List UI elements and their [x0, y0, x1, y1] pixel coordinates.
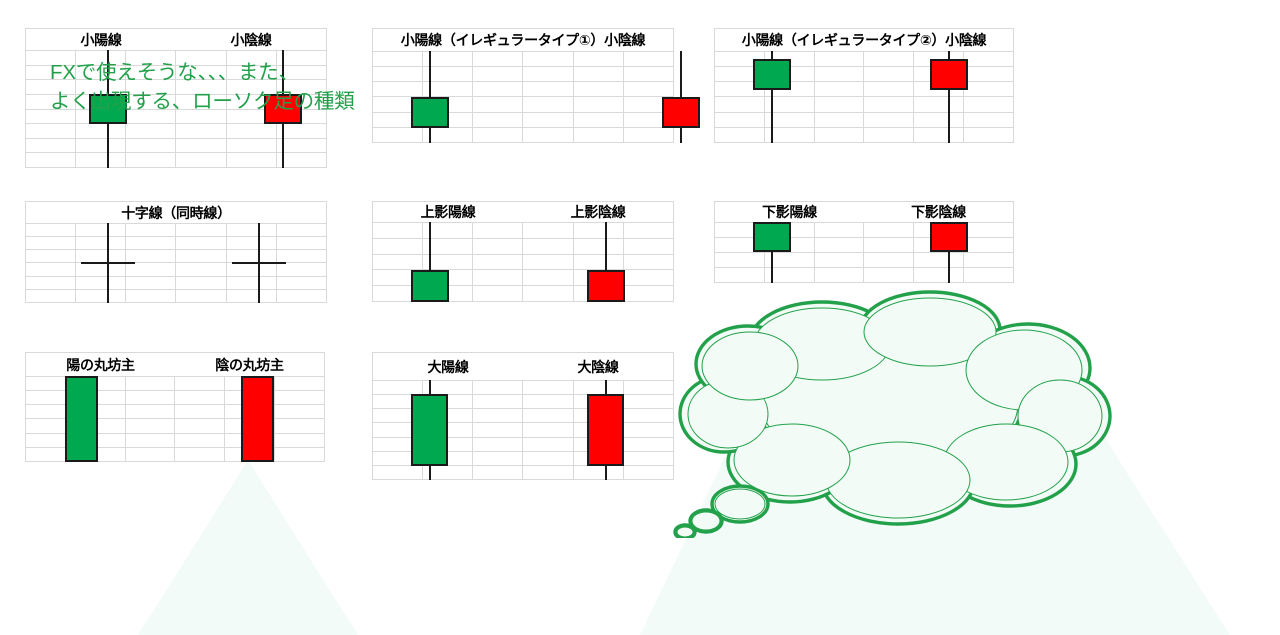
panel-header-label-1: 小陰線	[176, 30, 326, 50]
panel-header-label-1: 下影陰線	[864, 202, 1013, 222]
panel-header-row: 上影陽線 上影陰線	[373, 202, 674, 223]
panel-doji: 十字線（同時線）	[25, 201, 327, 303]
panel-header-row: 下影陽線 下影陰線	[715, 202, 1014, 223]
watermark-triangle-1	[138, 460, 358, 635]
bubble-text: FXで使えそうな、、、また、 よく出現する、ローソク足の種類	[50, 58, 410, 116]
grid-table: 下影陽線 下影陰線	[714, 201, 1014, 283]
panel-header-label-1: 陰の丸坊主	[175, 355, 324, 375]
panel-header-label-0: 小陽線（イレギュラータイプ①）小陰線	[401, 32, 645, 48]
panel-upper-shadow: 上影陽線 上影陰線	[372, 201, 674, 302]
panel-large-body: 大陽線 大陰線	[372, 352, 674, 480]
grid-table: 大陽線 大陰線	[372, 352, 674, 480]
panel-header-label-1: 上影陰線	[523, 202, 673, 222]
panel-header-row: 大陽線 大陰線	[373, 353, 674, 381]
thought-bubble	[672, 286, 1120, 538]
panel-header-label-0: 大陽線	[373, 357, 523, 377]
panel-marubozu: 陽の丸坊主 陰の丸坊主	[25, 352, 325, 462]
grid-table: 小陽線（イレギュラータイプ②）小陰線	[714, 28, 1014, 143]
panel-header-label-1: 大陰線	[523, 357, 673, 377]
panel-small-irregular-2: 小陽線（イレギュラータイプ②）小陰線	[714, 28, 1014, 143]
grid-table: 小陽線（イレギュラータイプ①）小陰線	[372, 28, 674, 143]
panel-header-label-0: 陽の丸坊主	[26, 355, 175, 375]
panel-header-label-0: 十字線（同時線）	[121, 205, 231, 221]
panel-header-label-0: 上影陽線	[373, 202, 523, 222]
panel-header-row: 陽の丸坊主 陰の丸坊主	[26, 353, 325, 377]
grid-table: 陽の丸坊主 陰の丸坊主	[25, 352, 325, 462]
panel-header-label-0: 小陽線	[26, 30, 176, 50]
grid-table: 上影陽線 上影陰線	[372, 201, 674, 302]
panel-header-row: 小陽線（イレギュラータイプ①）小陰線	[373, 29, 674, 52]
panel-header-row: 小陽線（イレギュラータイプ②）小陰線	[715, 29, 1014, 52]
grid-table: 十字線（同時線）	[25, 201, 327, 303]
panel-header-row: 十字線（同時線）	[26, 202, 327, 224]
panel-lower-shadow: 下影陽線 下影陰線	[714, 201, 1014, 283]
panel-header-label-0: 下影陽線	[715, 202, 864, 222]
panel-small-irregular-1: 小陽線（イレギュラータイプ①）小陰線	[372, 28, 674, 143]
panel-header-label-0: 小陽線（イレギュラータイプ②）小陰線	[742, 32, 986, 48]
panel-header-row: 小陽線 小陰線	[26, 29, 327, 51]
